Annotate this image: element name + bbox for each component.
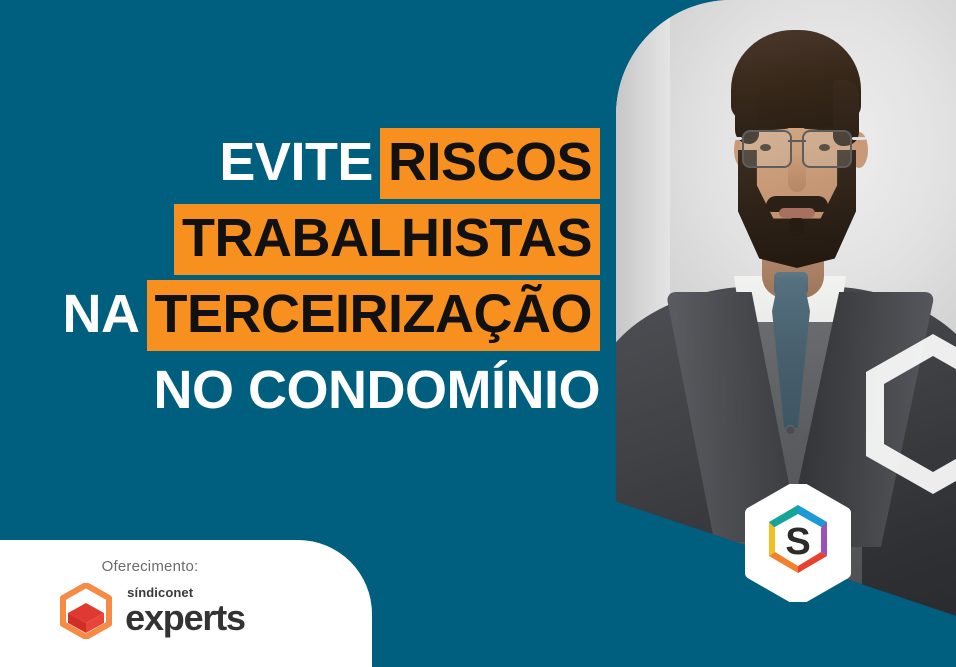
soul-patch — [789, 218, 804, 236]
headline-word-riscos: RISCOS — [380, 128, 600, 199]
lens-right — [802, 130, 852, 168]
sponsor-footer-content: Oferecimento: síndiconet experts — [0, 540, 300, 639]
sponsor-brand-text: síndiconet experts — [125, 586, 245, 636]
headline-line-1: EVITE RISCOS — [0, 128, 616, 199]
eyeglasses-icon — [742, 130, 852, 166]
hexagon-outline-watermark-icon — [858, 330, 956, 498]
promo-banner: S EVITE RISCOS TRABALHISTAS NA TERCEIRIZ… — [0, 0, 956, 667]
glasses-temple-left — [728, 137, 742, 140]
headline-line-3: NA TERCEIRIZAÇÃO — [0, 280, 616, 351]
badge-letter: S — [785, 521, 810, 563]
lens-left — [742, 130, 792, 168]
headline-block: EVITE RISCOS TRABALHISTAS NA TERCEIRIZAÇ… — [0, 128, 616, 432]
sponsor-footer-panel: Oferecimento: síndiconet experts — [0, 540, 372, 667]
glasses-bridge — [788, 140, 806, 142]
sindiconet-experts-hexagon-cube-icon — [59, 583, 113, 639]
headline-word-evite: EVITE — [219, 128, 373, 199]
glasses-temple-right — [852, 137, 866, 140]
headline-line-2: TRABALHISTAS — [0, 204, 616, 275]
vest-button — [786, 425, 795, 434]
headline-line-4: NO CONDOMÍNIO — [0, 356, 616, 427]
offer-label: Oferecimento: — [0, 558, 300, 575]
headline-word-trabalhistas: TRABALHISTAS — [174, 204, 600, 275]
sindiconet-s-hexagon-badge-icon: S — [744, 484, 852, 602]
brand-name-experts: experts — [125, 600, 245, 636]
lips — [779, 208, 815, 218]
headline-word-na: NA — [63, 280, 140, 351]
headline-word-terceirizacao: TERCEIRIZAÇÃO — [147, 280, 601, 351]
sponsor-brand[interactable]: síndiconet experts — [0, 583, 300, 639]
headline-word-no-condominio: NO CONDOMÍNIO — [154, 356, 601, 427]
hair — [731, 30, 861, 128]
